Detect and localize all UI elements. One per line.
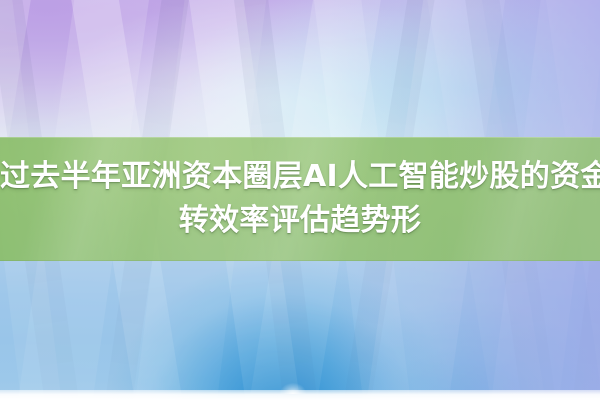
banner-title: 过去半年亚洲资本圈层AI人工智能炒股的资金周 转效率评估趋势形: [0, 137, 600, 261]
banner-title-line-1: 过去半年亚洲资本圈层AI人工智能炒股的资金周: [0, 155, 600, 199]
banner-title-line-2: 转效率评估趋势形: [0, 199, 600, 243]
banner-image: 过去半年亚洲资本圈层AI人工智能炒股的资金周 转效率评估趋势形: [0, 0, 600, 400]
bottom-white-strip: [0, 390, 600, 400]
